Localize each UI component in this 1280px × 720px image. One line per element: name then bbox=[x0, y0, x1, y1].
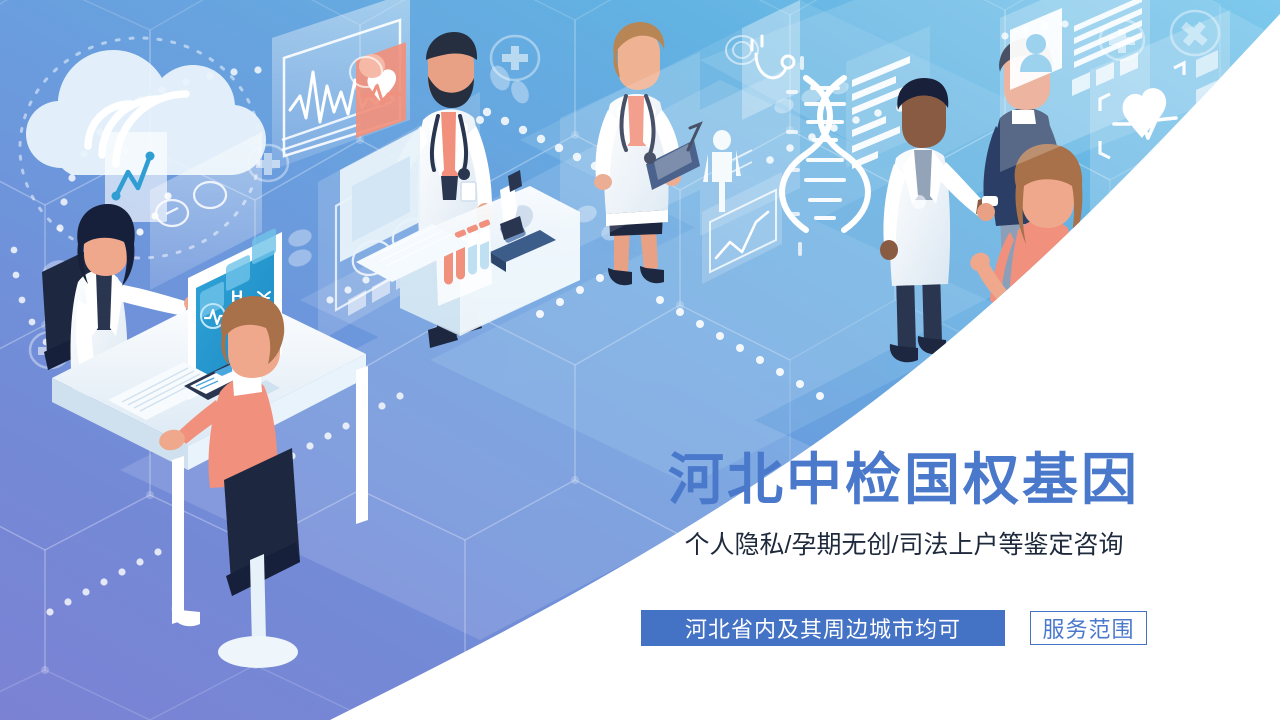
service-scope-bar: 河北省内及其周边城市均可 bbox=[641, 610, 1005, 646]
page-subtitle: 个人隐私/孕期无创/司法上户等鉴定咨询 bbox=[600, 530, 1208, 560]
service-scope-button[interactable]: 服务范围 bbox=[1030, 611, 1147, 645]
poster-text-block: 河北中检国权基因 个人隐私/孕期无创/司法上户等鉴定咨询 河北省内及其周边城市均… bbox=[600, 430, 1220, 680]
page-title: 河北中检国权基因 bbox=[600, 452, 1208, 508]
cta-row: 河北省内及其周边城市均可 服务范围 bbox=[641, 610, 1147, 646]
poster-stage: H bbox=[0, 0, 1280, 720]
